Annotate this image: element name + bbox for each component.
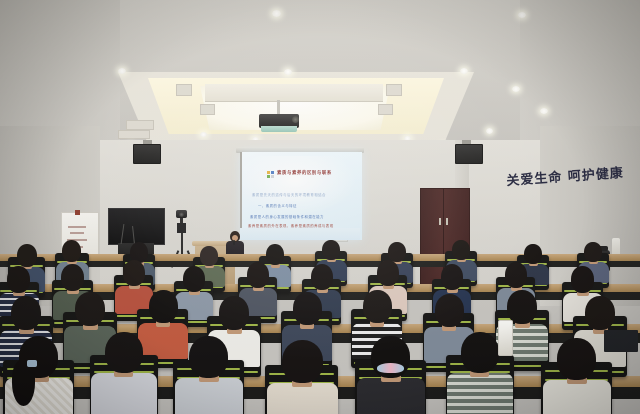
hair-clip bbox=[27, 360, 37, 367]
slide-line: 素质是人的身心发展的基础条件和潜在能力 bbox=[250, 214, 324, 219]
open-laptop bbox=[604, 330, 638, 352]
audience-area bbox=[0, 240, 640, 414]
person-head bbox=[363, 290, 392, 323]
audience-person bbox=[10, 336, 68, 414]
person-head bbox=[61, 264, 84, 291]
wall-speaker-left bbox=[133, 144, 161, 164]
flipchart-writing bbox=[68, 226, 86, 228]
person-head bbox=[311, 264, 333, 290]
downlight bbox=[486, 128, 493, 134]
downlight bbox=[460, 68, 468, 74]
person-head bbox=[105, 332, 143, 373]
person-head bbox=[17, 244, 37, 267]
roller-shade bbox=[205, 84, 383, 102]
camera-lens-icon bbox=[179, 212, 184, 217]
person-head bbox=[149, 290, 178, 323]
hair-bow bbox=[377, 363, 404, 373]
downlight bbox=[200, 132, 207, 137]
door-handle-icon[interactable] bbox=[439, 218, 441, 225]
person-torso bbox=[357, 378, 425, 414]
ceiling-vent bbox=[126, 120, 154, 130]
person-head bbox=[293, 292, 322, 325]
downlight bbox=[512, 86, 520, 92]
audience-person bbox=[548, 338, 606, 414]
projector-lens-icon bbox=[292, 116, 299, 123]
person-torso bbox=[91, 373, 157, 414]
person-head bbox=[505, 262, 527, 288]
person-torso bbox=[543, 380, 611, 414]
audience-person bbox=[180, 336, 238, 414]
slide-logo-icon bbox=[267, 171, 274, 178]
downlight bbox=[518, 12, 526, 18]
door-handle-icon[interactable] bbox=[446, 218, 448, 225]
flipchart-writing bbox=[70, 232, 84, 234]
person-torso bbox=[447, 373, 513, 414]
person-torso bbox=[175, 378, 243, 414]
downlight bbox=[540, 108, 548, 114]
audience-person bbox=[96, 332, 152, 410]
ceiling-vent bbox=[176, 84, 192, 96]
projector-base bbox=[261, 126, 297, 132]
downlight bbox=[118, 68, 126, 74]
person-head bbox=[571, 266, 594, 293]
person-head bbox=[247, 262, 269, 288]
audience-person bbox=[272, 340, 332, 414]
flipchart-clip bbox=[75, 210, 80, 215]
ceiling-vent bbox=[378, 104, 393, 115]
person-head bbox=[441, 264, 463, 290]
person-head bbox=[219, 296, 249, 330]
person-head bbox=[585, 296, 615, 330]
person-head bbox=[189, 336, 228, 378]
audience-person bbox=[362, 336, 420, 414]
ceiling-vent bbox=[386, 84, 402, 96]
slide-line: 一、素质的含义与特征 bbox=[258, 203, 297, 208]
ceiling-vent bbox=[118, 130, 150, 139]
camera-body bbox=[177, 223, 186, 233]
screen-lower-area bbox=[240, 228, 360, 240]
person-torso bbox=[267, 383, 338, 414]
person-head bbox=[377, 260, 399, 286]
slide-title: 素质与素养的区别与联系 bbox=[277, 170, 357, 176]
person-head bbox=[183, 266, 205, 292]
person-head bbox=[524, 244, 542, 264]
white-thermos-cup bbox=[498, 320, 513, 356]
person-head bbox=[322, 240, 340, 260]
person-head bbox=[200, 246, 218, 266]
person-head bbox=[452, 240, 470, 260]
ceiling-vent bbox=[200, 104, 215, 115]
person-head bbox=[557, 338, 596, 380]
person-head bbox=[282, 340, 323, 383]
person-head bbox=[435, 294, 464, 327]
person-head bbox=[461, 332, 499, 373]
meeting-room-photo: 关爱生命 呵护健康 素质与素养的区别与联系 素质是先天的遗传与后天的环境教育相结… bbox=[0, 0, 640, 414]
downlight bbox=[284, 69, 292, 75]
person-head bbox=[388, 242, 406, 262]
person-head bbox=[7, 266, 30, 293]
person-head bbox=[584, 242, 602, 262]
person-head bbox=[75, 292, 105, 326]
downlight bbox=[272, 10, 281, 17]
person-head bbox=[62, 240, 81, 262]
person-head bbox=[123, 260, 145, 286]
person-head bbox=[11, 296, 41, 330]
wall-speaker-right bbox=[455, 144, 483, 164]
person-head bbox=[507, 290, 537, 324]
slide-line: 素质是先天的遗传与后天的环境教育相结合 bbox=[252, 192, 326, 197]
